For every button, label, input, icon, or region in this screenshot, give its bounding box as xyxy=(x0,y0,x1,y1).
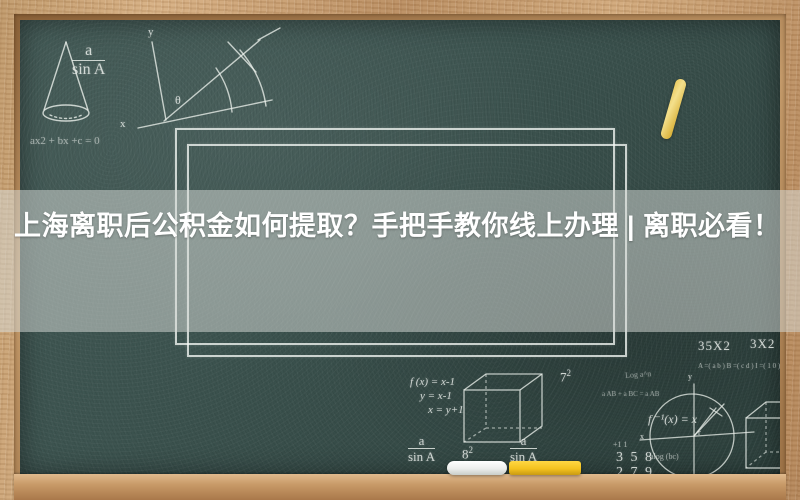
log-label-text: Log a^n xyxy=(625,369,652,380)
fraction-numerator: a xyxy=(510,434,537,448)
fraction-a-over-sinA-bottomleft-2: a sin A xyxy=(510,434,537,463)
exponent-seven-squared: 72 xyxy=(560,368,571,385)
screenshot-stage: a sin A ax2 + bx +c = 0 y x θ f (x) xyxy=(0,0,800,500)
fraction-a-over-sinA-bottomleft-1: a sin A xyxy=(408,434,435,463)
quadratic-formula-text: ax2 + bx +c = 0 xyxy=(30,135,100,147)
addition-line-1: 3 5 8 xyxy=(616,450,662,465)
function-line-1: f (x) = x-1 xyxy=(410,375,464,389)
white-chalk-piece xyxy=(447,461,507,475)
axis-label-y-topleft: y xyxy=(148,26,154,38)
banner-title-container: 上海离职后公积金如何提取？手把手教你线上办理 | 离职必看！ xyxy=(0,190,800,332)
axis-label-x-topleft: x xyxy=(120,118,126,130)
addition-carry: +1 1 xyxy=(613,440,628,449)
fraction-a-over-sinA-topleft: a sin A xyxy=(72,43,105,79)
matrix-b: B =( c d ) xyxy=(727,362,754,370)
addition-column-group: 3 5 8 2 7 9 6 3 7 xyxy=(616,450,662,475)
exponent-eight-squared: 82 xyxy=(462,445,473,462)
log-expression-text: alog (bc) xyxy=(650,452,679,461)
exponent-base: 8 xyxy=(462,446,469,461)
fraction-numerator: a xyxy=(72,43,105,60)
matrix-a: A =( a b ) xyxy=(698,362,725,370)
circle-with-axes-diagram xyxy=(632,378,762,475)
vector-expression: a AB + a BC = a AB xyxy=(602,390,659,398)
matrix-group: A =( a b ) B =( c d ) I =( 1 0 ) xyxy=(698,362,780,370)
angle-label-r: r xyxy=(698,428,701,437)
multiplication-expression-2: 3X2 xyxy=(750,336,775,352)
angle-label-theta: θ xyxy=(175,93,181,108)
angle-axes-diagram xyxy=(120,28,300,143)
yellow-chalk-piece xyxy=(509,461,581,475)
exponent-base: 7 xyxy=(560,369,567,384)
fraction-numerator: a xyxy=(408,434,435,448)
exponent-power: 2 xyxy=(469,445,474,455)
fraction-denominator: sin A xyxy=(408,448,435,464)
function-line-2: y = x-1 xyxy=(410,389,464,403)
multiplication-expression-1: 35X2 xyxy=(698,338,731,354)
exponent-power: 2 xyxy=(567,368,572,378)
function-line-3: x = y+1 xyxy=(410,403,464,417)
yellow-chalk-stick-on-board xyxy=(660,78,688,141)
matrix-c: I =( 1 0 ) xyxy=(755,362,780,370)
cube-diagram-left xyxy=(460,372,550,457)
axis-label-x-right: x xyxy=(640,432,644,441)
inverse-function-text: f ⁻¹(x) = x xyxy=(648,412,697,427)
fraction-denominator: sin A xyxy=(72,60,105,79)
chalk-ledge xyxy=(14,474,786,500)
banner-title-text: 上海离职后公积金如何提取？手把手教你线上办理 | 离职必看！ xyxy=(14,204,800,248)
function-equations-group: f (x) = x-1 y = x-1 x = y+1 xyxy=(410,375,464,417)
cube-diagram-right xyxy=(732,398,780,475)
axis-label-y-right: y xyxy=(688,372,692,381)
cone-diagram xyxy=(28,30,118,135)
